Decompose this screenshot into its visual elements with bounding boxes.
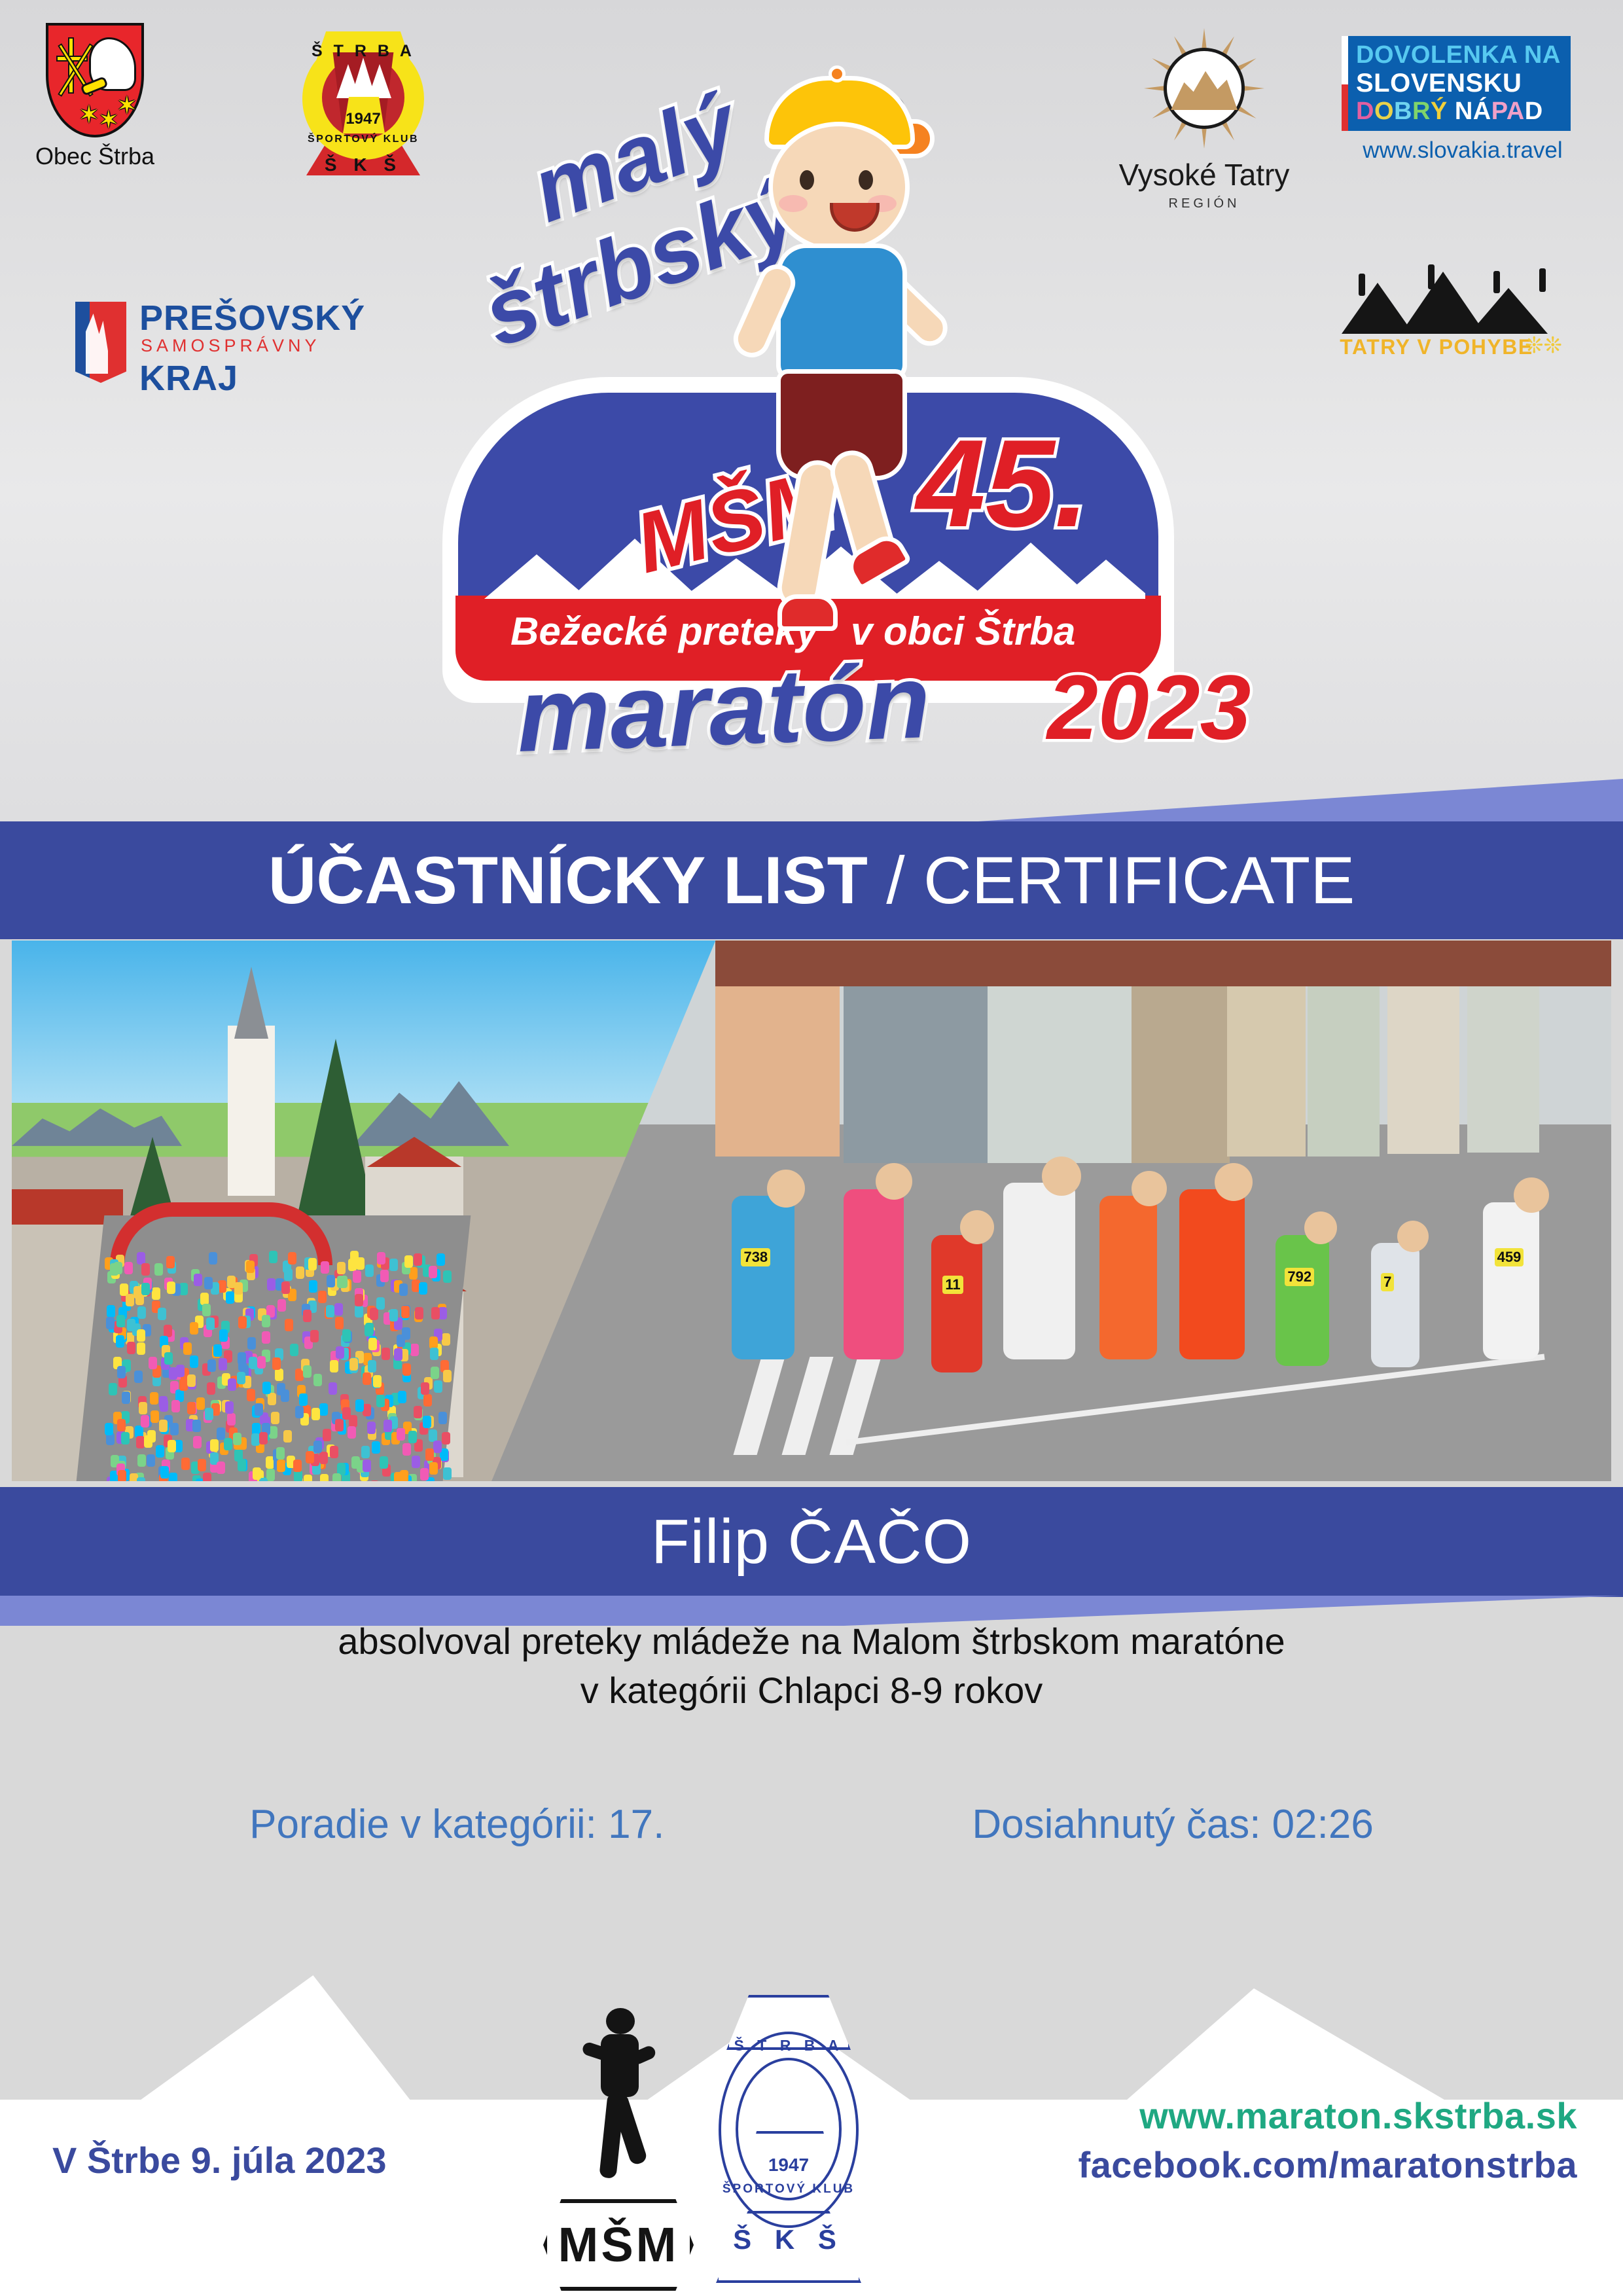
bib-number: 11 xyxy=(942,1276,963,1294)
dovolenka-line-3: DOBRÝ NÁPAD xyxy=(1356,98,1543,126)
details-line-2: v kategórii Chlapci 8-9 rokov xyxy=(0,1666,1623,1715)
event-logo: malý štrbský MŠM 45. Bežecké preteky v o… xyxy=(393,20,1243,779)
footer-date: V Štrbe 9. júla 2023 xyxy=(52,2139,386,2181)
title-plain-part: CERTIFICATE xyxy=(923,843,1355,918)
category-rank: Poradie v kategórii: 17. xyxy=(249,1801,664,1848)
achieved-time: Dosiahnutý čas: 02:26 xyxy=(972,1801,1374,1848)
certificate-page: ✶ ✶ ✶ Obec Štrba Š T R B A 1947 ŠPORTOVÝ… xyxy=(0,0,1623,2296)
header-logo-band: ✶ ✶ ✶ Obec Štrba Š T R B A 1947 ŠPORTOVÝ… xyxy=(0,0,1623,821)
footer-logo-sks: Š T R B A 1947 ŠPORTOVÝ KLUB Š K Š xyxy=(700,1995,877,2289)
sponsor-logo-obec-strba: ✶ ✶ ✶ Obec Štrba xyxy=(33,23,157,170)
results-row: Poradie v kategórii: 17. Dosiahnutý čas:… xyxy=(0,1801,1623,1848)
participant-name-band: Filip ČAČO xyxy=(0,1487,1623,1597)
sponsor-logo-dovolenka-slovensko: DOVOLENKA NA SLOVENSKU DOBRÝ NÁPAD www.s… xyxy=(1342,36,1584,164)
sponsor-logo-presovsky-kraj: PREŠOVSKÝ SAMOSPRÁVNY KRAJ xyxy=(75,298,416,389)
event-year: 2023 xyxy=(1047,655,1251,761)
footer-logo-msm: MŠM xyxy=(543,2008,694,2289)
psk-mark-icon xyxy=(75,302,126,383)
mountain-silhouette-icon xyxy=(1329,262,1564,334)
psk-line-3: KRAJ xyxy=(139,358,238,399)
footer-sks-top: Š T R B A xyxy=(700,2037,877,2054)
coat-of-arms-icon: ✶ ✶ ✶ xyxy=(46,23,144,137)
footer-facebook-link[interactable]: facebook.com/maratonstrba xyxy=(1079,2144,1577,2186)
participant-name: Filip ČAČO xyxy=(651,1506,972,1578)
footer-sks-arc: ŠPORTOVÝ KLUB xyxy=(700,2182,877,2197)
boy-runner-mascot-icon xyxy=(713,59,988,661)
bib-number: 792 xyxy=(1285,1268,1314,1286)
msm-diamond-mark: MŠM xyxy=(543,2199,694,2291)
sponsor-logo-tatry-v-pohybe: TATRY V POHYBE ❊❊ xyxy=(1329,262,1577,367)
slovakia-travel-url[interactable]: www.slovakia.travel xyxy=(1342,137,1584,164)
tatry-v-pohybe-caption: TATRY V POHYBE xyxy=(1329,335,1544,359)
details-line-1: absolvoval preteky mládeže na Malom štrb… xyxy=(0,1617,1623,1666)
certificate-details: absolvoval preteky mládeže na Malom štrb… xyxy=(0,1617,1623,1715)
dovolenka-line-2: SLOVENSKU xyxy=(1356,69,1522,98)
psk-line-2: SAMOSPRÁVNY xyxy=(141,336,321,356)
dovolenka-line-1: DOVOLENKA NA xyxy=(1356,41,1561,69)
title-bold-part: ÚČASTNÍCKY LIST xyxy=(268,843,868,918)
certificate-title-band: ÚČASTNÍCKY LIST / CERTIFICATE xyxy=(0,821,1623,939)
footer-sks-year: 1947 xyxy=(700,2155,877,2176)
psk-line-1: PREŠOVSKÝ xyxy=(139,298,365,338)
edelweiss-flower-icon: ❊❊ xyxy=(1525,332,1562,359)
runner-silhouette-icon xyxy=(577,2008,662,2211)
footer-website-link[interactable]: www.maraton.skstrba.sk xyxy=(1079,2094,1577,2137)
msm-mark-text: MŠM xyxy=(547,2203,690,2287)
obec-strba-caption: Obec Štrba xyxy=(33,143,157,170)
footer-sks-bottom: Š K Š xyxy=(700,2224,877,2255)
bib-number: 459 xyxy=(1495,1248,1524,1266)
crowd-of-runners xyxy=(103,1248,444,1481)
race-photo-collage: 738 11 792 7 459 xyxy=(12,941,1611,1481)
certificate-title: ÚČASTNÍCKY LIST / CERTIFICATE xyxy=(268,842,1355,919)
footer-links: www.maraton.skstrba.sk facebook.com/mara… xyxy=(1079,2094,1577,2186)
title-separator: / xyxy=(868,843,923,918)
bib-number: 738 xyxy=(741,1248,770,1266)
bib-number: 7 xyxy=(1381,1273,1394,1291)
